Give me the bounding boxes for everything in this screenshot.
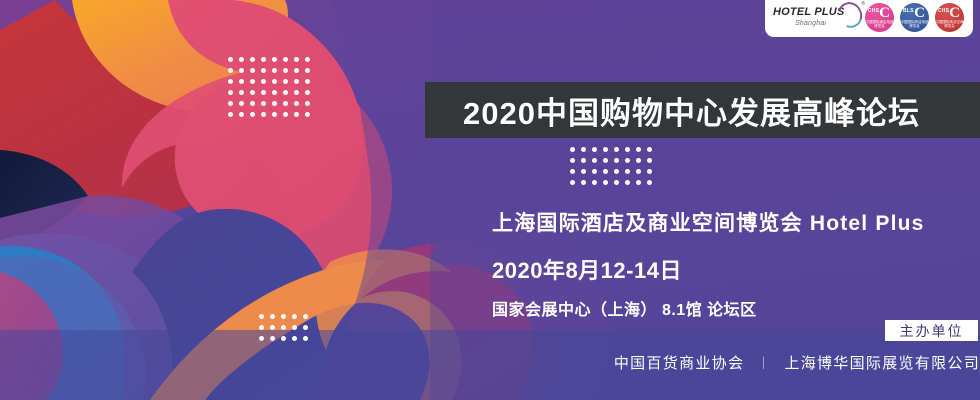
event-venue: 国家会展中心（上海） 8.1馆 论坛区 (492, 296, 980, 320)
badge-chs-tag: CHS (868, 9, 879, 14)
badge-bls-tag: BLS (903, 9, 914, 14)
organizer-separator: | (762, 355, 766, 371)
organizer-list: 中国百货商业协会 | 上海博华国际展览有限公司 (600, 352, 980, 373)
organizer-name-2: 上海博华国际展览有限公司 (784, 352, 980, 373)
dot-grid-decoration-lower (259, 314, 314, 347)
dot-grid-decoration-middle (570, 147, 658, 191)
page-title: 2020中国购物中心发展高峰论坛 (425, 88, 920, 133)
badge-chs-logo: CHS C 中国国际酒店用品博览会 (865, 3, 894, 32)
abstract-background-artwork (0, 0, 980, 400)
badge-cbs-caption: 中国国际商业空间博览会 (935, 20, 964, 29)
sponsor-logo-plate: HOTEL PLUS Shanghai ® CHS C 中国国际酒店用品博览会 … (765, 0, 973, 37)
event-date: 2020年8月12-14日 (492, 253, 980, 285)
trademark-icon: ® (861, 1, 865, 7)
organizer-name-1: 中国百货商业协会 (614, 352, 744, 373)
badge-bls-logo: BLS C 中国国际清洁用品博览会 (900, 3, 929, 32)
event-banner: 2020中国购物中心发展高峰论坛 上海国际酒店及商业空间博览会 Hotel Pl… (0, 0, 980, 400)
badge-cbs-tag: CHS (938, 9, 949, 14)
badge-chs-caption: 中国国际酒店用品博览会 (865, 20, 894, 29)
dot-grid-decoration-top (228, 57, 316, 123)
organizer-badge-text: 主办单位 (900, 321, 964, 341)
badge-bls-caption: 中国国际清洁用品博览会 (900, 20, 929, 29)
badge-cbs-logo: CHS C 中国国际商业空间博览会 (935, 3, 964, 32)
event-details-block: 上海国际酒店及商业空间博览会 Hotel Plus 2020年8月12-14日 … (492, 207, 980, 320)
hotel-plus-logo: HOTEL PLUS Shanghai ® (773, 2, 859, 32)
exhibition-name: 上海国际酒店及商业空间博览会 Hotel Plus (492, 207, 980, 237)
organizer-label-badge: 主办单位 (885, 320, 978, 341)
title-bar: 2020中国购物中心发展高峰论坛 (425, 82, 980, 138)
